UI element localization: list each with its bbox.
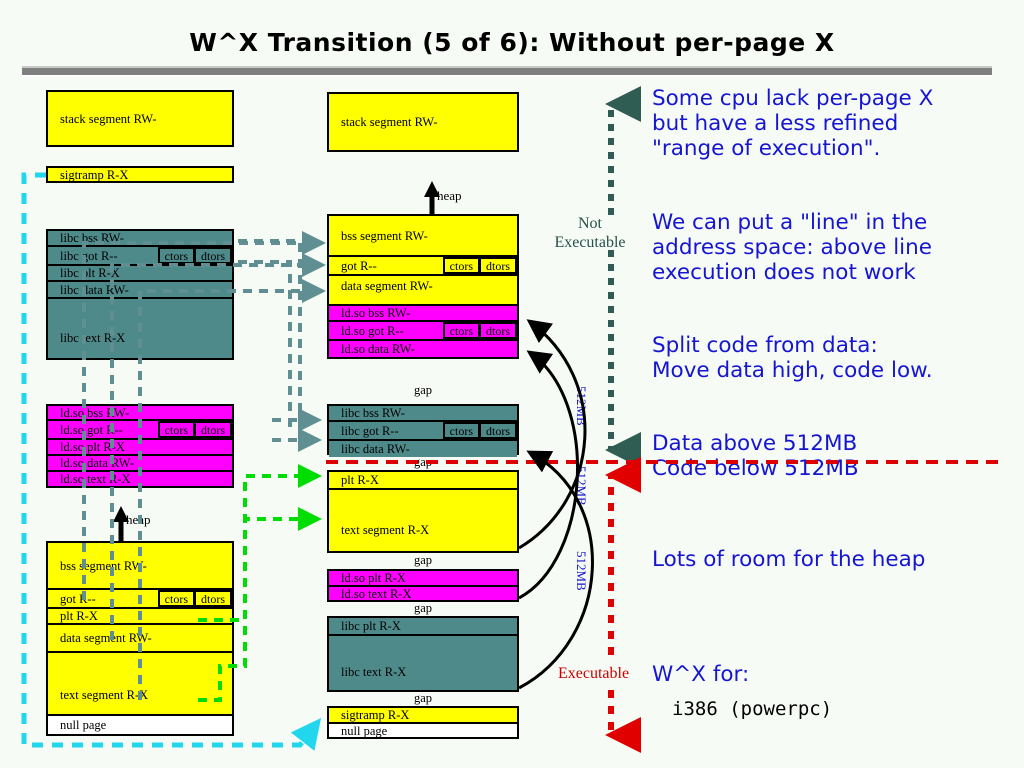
left-seg-sigtramp[interactable]: sigtramp R-X bbox=[48, 168, 232, 181]
note-wx-for: W^X for: bbox=[652, 662, 1012, 687]
mid-seg-got[interactable]: got R-- ctors dtors bbox=[329, 257, 517, 276]
mid-seg-ldso-data[interactable]: ld.so data RW- bbox=[329, 341, 517, 357]
mid-seg-sigtramp[interactable]: sigtramp R-X bbox=[329, 708, 517, 724]
mid-data-group: bss segment RW- got R-- ctors dtors data… bbox=[327, 214, 519, 359]
mid-gap-1: gap bbox=[327, 383, 519, 398]
mid-libc-code-group: libc plt R-X libc text R-X bbox=[327, 616, 519, 692]
left-heap-label: heap bbox=[126, 512, 151, 528]
mb-label-3: 512MB bbox=[573, 551, 589, 591]
mid-gap-3: gap bbox=[327, 553, 519, 568]
left-ldso-dtors[interactable]: dtors bbox=[194, 421, 232, 438]
mid-gap-4: gap bbox=[327, 601, 519, 616]
left-seg-bss[interactable]: bss segment RW- bbox=[48, 543, 232, 590]
left-ldso-group: ld.so bss RW- ld.so got R-- ctors dtors … bbox=[46, 404, 234, 488]
left-seg-libc-got[interactable]: libc got R-- ctors dtors bbox=[48, 247, 232, 266]
mid-prog-ctors-dtors[interactable]: ctors dtors bbox=[443, 257, 517, 274]
left-seg-libc-data[interactable]: libc data RW- bbox=[48, 282, 232, 299]
left-libc-group: libc bss RW- libc got R-- ctors dtors li… bbox=[46, 229, 234, 360]
platforms-label: i386 (powerpc) bbox=[672, 698, 832, 720]
mid-ldso-dtors[interactable]: dtors bbox=[479, 322, 517, 339]
not-executable-label: Not Executable bbox=[545, 214, 635, 252]
mid-prog-ctors[interactable]: ctors bbox=[443, 257, 479, 274]
mid-seg-libc-bss[interactable]: libc bss RW- bbox=[329, 406, 517, 422]
left-seg-ldso-plt-label: ld.so plt R-X bbox=[60, 441, 125, 454]
mid-seg-libc-plt[interactable]: libc plt R-X bbox=[329, 618, 517, 636]
left-ldso-ctors-dtors[interactable]: ctors dtors bbox=[158, 421, 232, 438]
left-seg-ldso-data-label: ld.so data RW- bbox=[60, 457, 134, 470]
mid-seg-sigtramp-label: sigtramp R-X bbox=[341, 709, 409, 722]
mid-libc-ctors-dtors[interactable]: ctors dtors bbox=[443, 422, 517, 439]
left-seg-libc-got-label: libc got R-- bbox=[60, 249, 118, 262]
mid-prog-dtors[interactable]: dtors bbox=[479, 257, 517, 274]
mid-seg-bss[interactable]: bss segment RW- bbox=[329, 216, 517, 257]
mid-seg-libc-text-label: libc text R-X bbox=[341, 666, 406, 679]
mid-libc-dtors[interactable]: dtors bbox=[479, 422, 517, 439]
mid-heap-label: heap bbox=[437, 188, 462, 204]
left-seg-libc-plt[interactable]: libc plt R-X bbox=[48, 266, 232, 282]
left-seg-ldso-text[interactable]: ld.so text R-X bbox=[48, 472, 232, 486]
left-prog-dtors[interactable]: dtors bbox=[194, 590, 232, 607]
mid-seg-libc-got-label: libc got R-- bbox=[341, 424, 399, 437]
mid-seg-ldso-text[interactable]: ld.so text R-X bbox=[329, 587, 517, 600]
mid-seg-ldso-data-label: ld.so data RW- bbox=[341, 343, 415, 356]
mid-seg-libc-bss-label: libc bss RW- bbox=[341, 407, 405, 420]
left-seg-ldso-bss-label: ld.so bss RW- bbox=[60, 406, 129, 419]
mid-seg-null[interactable]: null page bbox=[329, 724, 517, 737]
left-seg-stack-label: stack segment RW- bbox=[60, 112, 157, 125]
mid-gap-2: gap bbox=[327, 455, 519, 470]
mid-seg-ldso-plt[interactable]: ld.so plt R-X bbox=[329, 571, 517, 587]
left-seg-ldso-text-label: ld.so text R-X bbox=[60, 473, 130, 486]
executable-label: Executable bbox=[558, 665, 629, 683]
mid-seg-ldso-bss[interactable]: ld.so bss RW- bbox=[329, 306, 517, 322]
left-stack-group: stack segment RW- bbox=[46, 90, 234, 147]
mid-sigtramp-null-group: sigtramp R-X null page bbox=[327, 706, 519, 739]
left-seg-libc-plt-label: libc plt R-X bbox=[60, 267, 120, 280]
left-seg-data[interactable]: data segment RW- bbox=[48, 625, 232, 653]
mid-program-code-group: plt R-X text segment R-X bbox=[327, 470, 519, 553]
note-split-code-data: Split code from data: Move data high, co… bbox=[652, 333, 1012, 383]
mid-seg-ldso-text-label: ld.so text R-X bbox=[341, 587, 411, 600]
left-seg-stack[interactable]: stack segment RW- bbox=[48, 92, 232, 145]
left-seg-ldso-data[interactable]: ld.so data RW- bbox=[48, 456, 232, 472]
left-prog-ctors[interactable]: ctors bbox=[158, 590, 194, 607]
left-seg-libc-text[interactable]: libc text R-X bbox=[48, 299, 232, 358]
left-seg-bss-label: bss segment RW- bbox=[60, 559, 147, 572]
mid-seg-ldso-plt-label: ld.so plt R-X bbox=[341, 572, 406, 585]
mid-seg-stack-label: stack segment RW- bbox=[341, 116, 438, 129]
mid-seg-libc-data-label: libc data RW- bbox=[341, 443, 410, 456]
left-seg-ldso-got[interactable]: ld.so got R-- ctors dtors bbox=[48, 421, 232, 440]
mid-libc-ctors[interactable]: ctors bbox=[443, 422, 479, 439]
mid-seg-bss-label: bss segment RW- bbox=[341, 229, 428, 242]
mid-seg-text-label: text segment R-X bbox=[341, 524, 429, 537]
mid-seg-plt[interactable]: plt R-X bbox=[329, 472, 517, 490]
left-seg-null-label: null page bbox=[60, 719, 106, 732]
left-seg-text-label: text segment R-X bbox=[60, 689, 148, 702]
mid-seg-libc-got[interactable]: libc got R-- ctors dtors bbox=[329, 422, 517, 441]
mid-seg-libc-plt-label: libc plt R-X bbox=[341, 620, 401, 633]
left-seg-data-label: data segment RW- bbox=[60, 632, 152, 645]
mb-label-2: 512MB bbox=[573, 466, 589, 506]
left-seg-plt[interactable]: plt R-X bbox=[48, 609, 232, 625]
left-seg-ldso-got-label: ld.so got R-- bbox=[60, 423, 123, 436]
left-seg-plt-label: plt R-X bbox=[60, 610, 98, 623]
page-title: W^X Transition (5 of 6): Without per-pag… bbox=[0, 28, 1024, 57]
left-seg-ldso-bss[interactable]: ld.so bss RW- bbox=[48, 406, 232, 421]
left-seg-libc-bss[interactable]: libc bss RW- bbox=[48, 231, 232, 247]
left-seg-got[interactable]: got R-- ctors dtors bbox=[48, 590, 232, 609]
mid-ldso-ctors-dtors[interactable]: ctors dtors bbox=[443, 322, 517, 339]
mb-label-1: 512MB bbox=[573, 386, 589, 426]
title-divider bbox=[22, 66, 992, 77]
mid-seg-text[interactable]: text segment R-X bbox=[329, 490, 517, 551]
left-ldso-ctors[interactable]: ctors bbox=[158, 421, 194, 438]
left-seg-ldso-plt[interactable]: ld.so plt R-X bbox=[48, 440, 232, 456]
left-seg-text[interactable]: text segment R-X bbox=[48, 653, 232, 716]
mid-gap-5: gap bbox=[327, 691, 519, 706]
left-seg-sigtramp-label: sigtramp R-X bbox=[60, 168, 128, 181]
mid-ldso-code-group: ld.so plt R-X ld.so text R-X bbox=[327, 569, 519, 602]
left-libc-ctors-dtors[interactable]: ctors dtors bbox=[158, 247, 232, 264]
mid-seg-got-label: got R-- bbox=[341, 259, 377, 272]
mid-seg-data-label: data segment RW- bbox=[341, 280, 433, 293]
left-program-group: bss segment RW- got R-- ctors dtors plt … bbox=[46, 541, 234, 736]
left-seg-libc-bss-label: libc bss RW- bbox=[60, 232, 124, 245]
note-line-in-address-space: We can put a "line" in the address space… bbox=[652, 210, 1012, 285]
left-libc-dtors[interactable]: dtors bbox=[194, 247, 232, 264]
mid-seg-null-label: null page bbox=[341, 724, 387, 737]
mid-seg-libc-text[interactable]: libc text R-X bbox=[329, 636, 517, 690]
mid-seg-ldso-got[interactable]: ld.so got R-- ctors dtors bbox=[329, 322, 517, 341]
left-seg-null[interactable]: null page bbox=[48, 716, 232, 734]
mid-seg-ldso-got-label: ld.so got R-- bbox=[341, 324, 404, 337]
note-512mb-split: Data above 512MB Code below 512MB bbox=[652, 431, 1012, 481]
mid-seg-ldso-bss-label: ld.so bss RW- bbox=[341, 307, 410, 320]
note-heap-room: Lots of room for the heap bbox=[652, 547, 1012, 572]
mid-libc-data-group: libc bss RW- libc got R-- ctors dtors li… bbox=[327, 404, 519, 455]
mid-seg-data[interactable]: data segment RW- bbox=[329, 276, 517, 306]
mid-seg-stack[interactable]: stack segment RW- bbox=[329, 94, 517, 150]
mid-seg-plt-label: plt R-X bbox=[341, 474, 379, 487]
slide-canvas: W^X Transition (5 of 6): Without per-pag… bbox=[0, 0, 1024, 768]
left-sigtramp-group: sigtramp R-X bbox=[46, 166, 234, 183]
left-seg-got-label: got R-- bbox=[60, 592, 96, 605]
mid-stack-group: stack segment RW- bbox=[327, 92, 519, 152]
left-prog-ctors-dtors[interactable]: ctors dtors bbox=[158, 590, 232, 607]
left-libc-ctors[interactable]: ctors bbox=[158, 247, 194, 264]
left-seg-libc-text-label: libc text R-X bbox=[60, 332, 125, 345]
mid-ldso-ctors[interactable]: ctors bbox=[443, 322, 479, 339]
left-seg-libc-data-label: libc data RW- bbox=[60, 283, 129, 296]
note-range-of-execution: Some cpu lack per-page X but have a less… bbox=[652, 86, 1012, 161]
